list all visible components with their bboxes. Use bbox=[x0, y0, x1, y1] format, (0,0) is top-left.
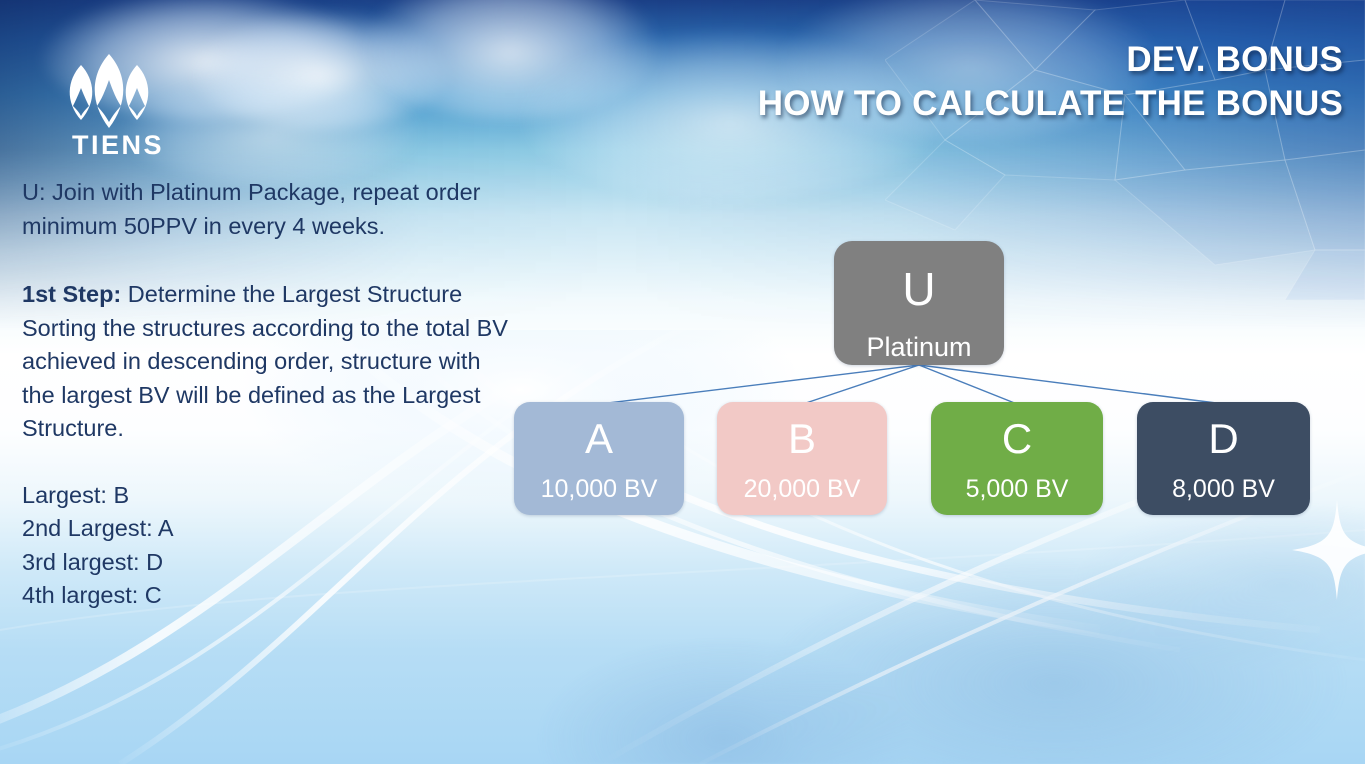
node-b[interactable]: B 20,000 BV bbox=[717, 402, 887, 515]
sparkle-icon bbox=[1292, 500, 1365, 600]
node-u-label: U bbox=[834, 241, 1004, 312]
intro-paragraph: U: Join with Platinum Package, repeat or… bbox=[22, 176, 512, 243]
node-u-sublabel: Platinum bbox=[834, 312, 1004, 361]
list-item: 3rd largest: D bbox=[22, 546, 512, 580]
node-b-label: B bbox=[717, 402, 887, 460]
node-d-bv: 8,000 BV bbox=[1137, 460, 1310, 502]
paragraph-spacer bbox=[22, 446, 512, 479]
node-b-bv: 20,000 BV bbox=[717, 460, 887, 502]
node-c-label: C bbox=[931, 402, 1103, 460]
list-item: 2nd Largest: A bbox=[22, 512, 512, 546]
tiens-wordmark: TIENS bbox=[72, 130, 164, 160]
explanation-paragraph: Sorting the structures according to the … bbox=[22, 312, 512, 446]
node-a[interactable]: A 10,000 BV bbox=[514, 402, 684, 515]
slide-canvas: TIENS DEV. BONUS HOW TO CALCULATE THE BO… bbox=[0, 0, 1365, 764]
title-line-secondary: HOW TO CALCULATE THE BONUS bbox=[758, 86, 1343, 121]
list-item: Largest: B bbox=[22, 479, 512, 513]
node-a-bv: 10,000 BV bbox=[514, 460, 684, 502]
node-c-bv: 5,000 BV bbox=[931, 460, 1103, 502]
page-title: DEV. BONUS HOW TO CALCULATE THE BONUS bbox=[758, 42, 1343, 121]
node-d-label: D bbox=[1137, 402, 1310, 460]
paragraph-spacer bbox=[22, 243, 512, 278]
list-item: 4th largest: C bbox=[22, 579, 512, 613]
step-text: Determine the Largest Structure bbox=[121, 281, 462, 307]
title-line-primary: DEV. BONUS bbox=[758, 42, 1343, 77]
node-d[interactable]: D 8,000 BV bbox=[1137, 402, 1310, 515]
ranking-list: Largest: B 2nd Largest: A 3rd largest: D… bbox=[22, 479, 512, 613]
tiens-logo: TIENS bbox=[55, 50, 181, 160]
node-a-label: A bbox=[514, 402, 684, 460]
tiens-lotus-icon: TIENS bbox=[55, 50, 181, 160]
body-text-block: U: Join with Platinum Package, repeat or… bbox=[22, 176, 512, 613]
node-u[interactable]: U Platinum bbox=[834, 241, 1004, 365]
step-label: 1st Step: bbox=[22, 281, 121, 307]
node-c[interactable]: C 5,000 BV bbox=[931, 402, 1103, 515]
step-paragraph: 1st Step: Determine the Largest Structur… bbox=[22, 278, 512, 312]
